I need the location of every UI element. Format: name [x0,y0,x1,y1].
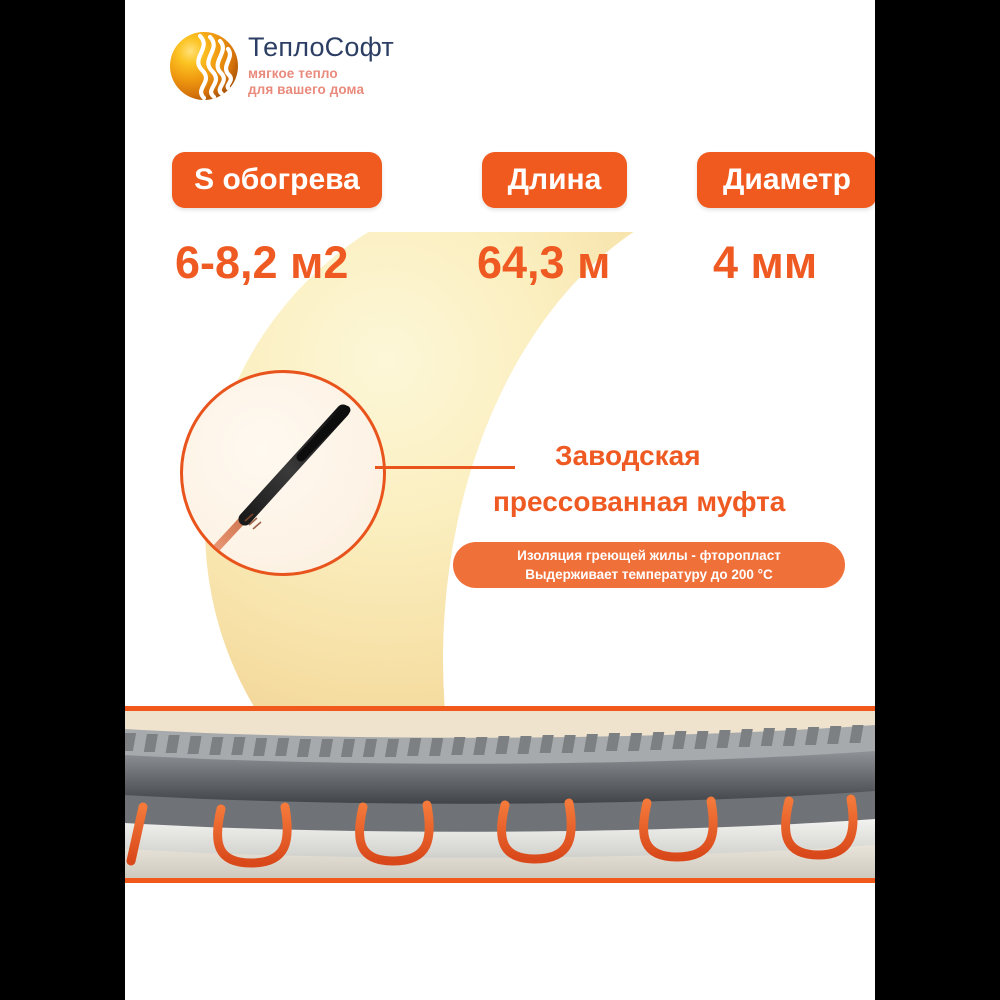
callout-text-line1: Заводская [555,440,701,472]
insulation-pill-line2: Выдерживает температуру до 200 °C [525,565,773,584]
spec-badge-diameter: Диаметр [697,152,875,208]
insulation-pill-line1: Изоляция греющей жилы - фторопласт [517,546,781,565]
brand-tagline-line2: для вашего дома [248,82,364,97]
brand-logo: ТеплоСофт мягкое тепло для вашего дома [170,32,394,100]
insulation-info-pill: Изоляция греющей жилы - фторопласт Выдер… [453,542,845,588]
spec-value-heating-area: 6-8,2 м2 [175,237,348,289]
content-panel: ТеплоСофт мягкое тепло для вашего дома S… [125,0,875,1000]
brand-tagline: мягкое тепло для вашего дома [248,66,394,99]
spec-badge-length: Длина [482,152,627,208]
callout-text-line2: прессованная муфта [493,486,785,518]
product-infographic-page: ТеплоСофт мягкое тепло для вашего дома S… [0,0,1000,1000]
cable-coupling-icon [180,370,386,576]
brand-wordmark: ТеплоСофт мягкое тепло для вашего дома [248,34,394,99]
brand-name: ТеплоСофт [248,34,394,61]
spec-value-length: 64,3 м [477,237,610,289]
spec-badge-heating-area: S обогрева [172,152,382,208]
photo-divider-bottom [125,878,875,883]
brand-tagline-line1: мягкое тепло [248,66,338,81]
sphere-waves-icon [170,32,238,100]
callout-leader-line [375,466,515,469]
spec-value-diameter: 4 мм [713,237,817,289]
heating-cable-mat-photo [125,711,875,878]
